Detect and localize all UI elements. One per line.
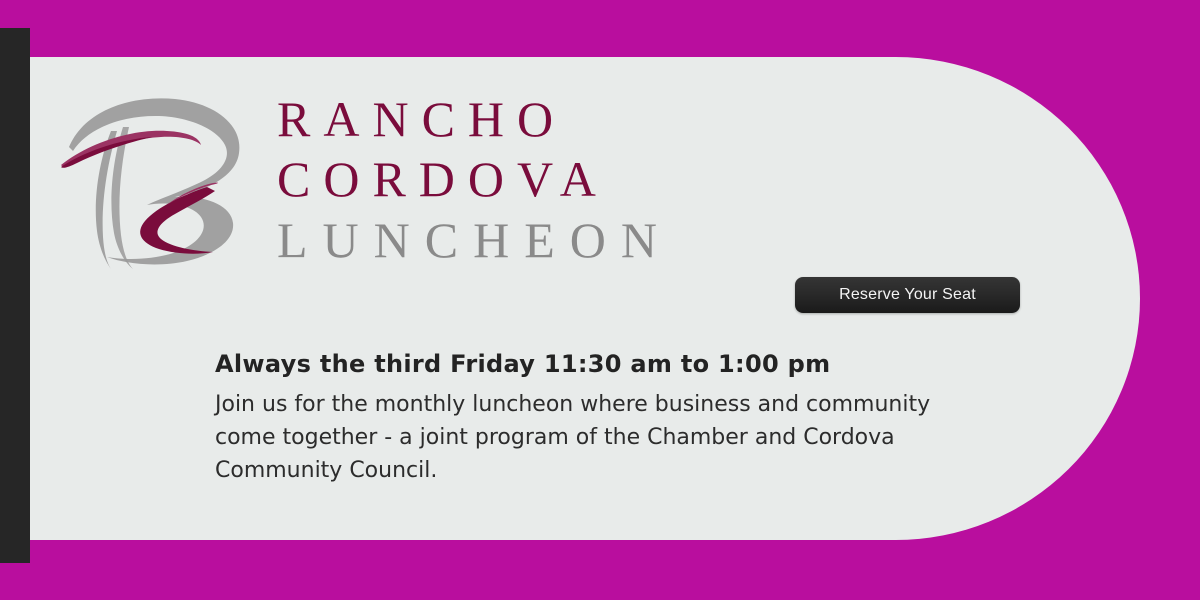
left-accent-bar (0, 28, 30, 563)
copy-block: Always the third Friday 11:30 am to 1:00… (215, 350, 975, 487)
brand-line-luncheon: LUNCHEON (277, 209, 672, 271)
schedule-heading: Always the third Friday 11:30 am to 1:00… (215, 350, 975, 379)
luncheon-promo-banner: RANCHO CORDOVA LUNCHEON Reserve Your Sea… (0, 0, 1200, 600)
wordmark: RANCHO CORDOVA LUNCHEON (277, 89, 672, 271)
rancho-cordova-r-monogram-icon (55, 87, 255, 272)
reserve-your-seat-button[interactable]: Reserve Your Seat (795, 277, 1020, 313)
logo-lockup: RANCHO CORDOVA LUNCHEON (55, 85, 672, 272)
brand-line-rancho: RANCHO (277, 89, 672, 149)
brand-line-cordova: CORDOVA (277, 149, 672, 209)
description-text: Join us for the monthly luncheon where b… (215, 388, 960, 487)
